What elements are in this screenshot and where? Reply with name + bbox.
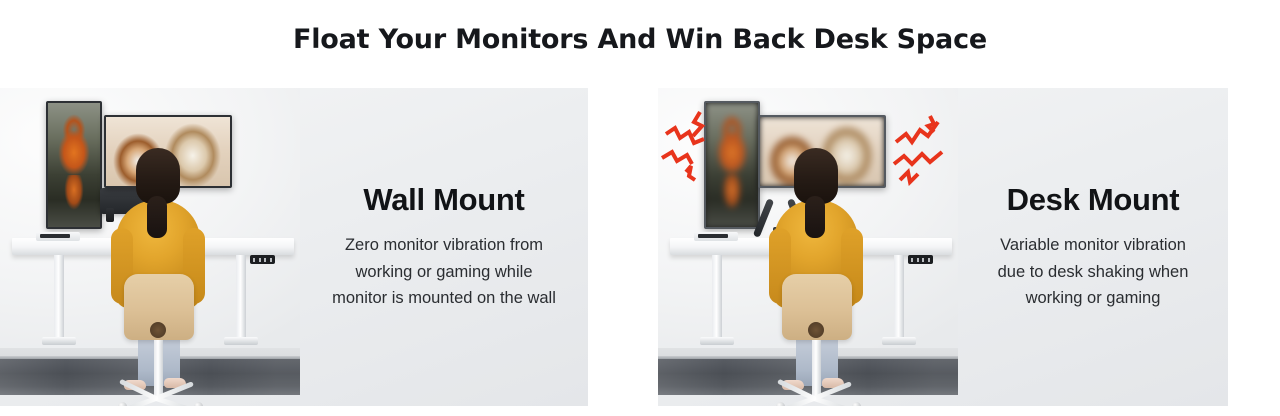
caption-line: working or gaming while	[332, 259, 556, 286]
desk-leg-right	[236, 255, 246, 341]
promo-graphic: Float Your Monitors And Win Back Desk Sp…	[0, 0, 1280, 416]
page-title: Float Your Monitors And Win Back Desk Sp…	[0, 24, 1280, 55]
person-ponytail	[805, 196, 825, 238]
caption-line: monitor is mounted on the wall	[332, 285, 556, 312]
chair-backrest-hole	[150, 322, 166, 338]
chair-backrest-hole	[808, 322, 824, 338]
caption-title: Desk Mount	[1007, 182, 1180, 218]
desk-control-panel	[250, 255, 275, 264]
desk-foot-left	[700, 337, 734, 345]
fox-photo	[48, 103, 100, 227]
caption-line: Zero monitor vibration from	[332, 232, 556, 259]
desk-leg-left	[712, 255, 722, 341]
chair-caster	[852, 402, 861, 406]
desk-foot-right	[224, 337, 258, 345]
scene-wall-mount	[0, 88, 300, 406]
chair-caster	[118, 402, 127, 406]
caption-body: Variable monitor vibration due to desk s…	[998, 232, 1189, 312]
desk-leg-right	[894, 255, 904, 341]
desk-foot-left	[42, 337, 76, 345]
person-seated	[110, 148, 206, 348]
desk-control-panel	[908, 255, 933, 264]
person-ponytail	[147, 196, 167, 238]
caption-line: working or gaming	[998, 285, 1189, 312]
keyboard	[694, 232, 738, 241]
desk-leg-left	[54, 255, 64, 341]
caption-body: Zero monitor vibration from working or g…	[332, 232, 556, 312]
chair-caster	[776, 402, 785, 406]
caption-title: Wall Mount	[363, 182, 524, 218]
vertical-monitor-fox	[46, 101, 102, 229]
fox-photo-blurred	[706, 103, 758, 227]
scene-desk-mount	[658, 88, 958, 406]
chair-base	[774, 388, 860, 406]
panel-wall-mount: Wall Mount Zero monitor vibration from w…	[0, 88, 588, 406]
caption-line: Variable monitor vibration	[998, 232, 1189, 259]
person-seated	[768, 148, 864, 348]
panel-desk-mount: Desk Mount Variable monitor vibration du…	[658, 88, 1228, 406]
vertical-monitor-fox	[704, 101, 760, 229]
keyboard	[36, 232, 80, 241]
chair-base	[116, 388, 202, 406]
caption-desk-mount: Desk Mount Variable monitor vibration du…	[958, 88, 1228, 406]
caption-line: due to desk shaking when	[998, 259, 1189, 286]
caption-wall-mount: Wall Mount Zero monitor vibration from w…	[300, 88, 588, 406]
desk-foot-right	[882, 337, 916, 345]
chair-caster	[194, 402, 203, 406]
